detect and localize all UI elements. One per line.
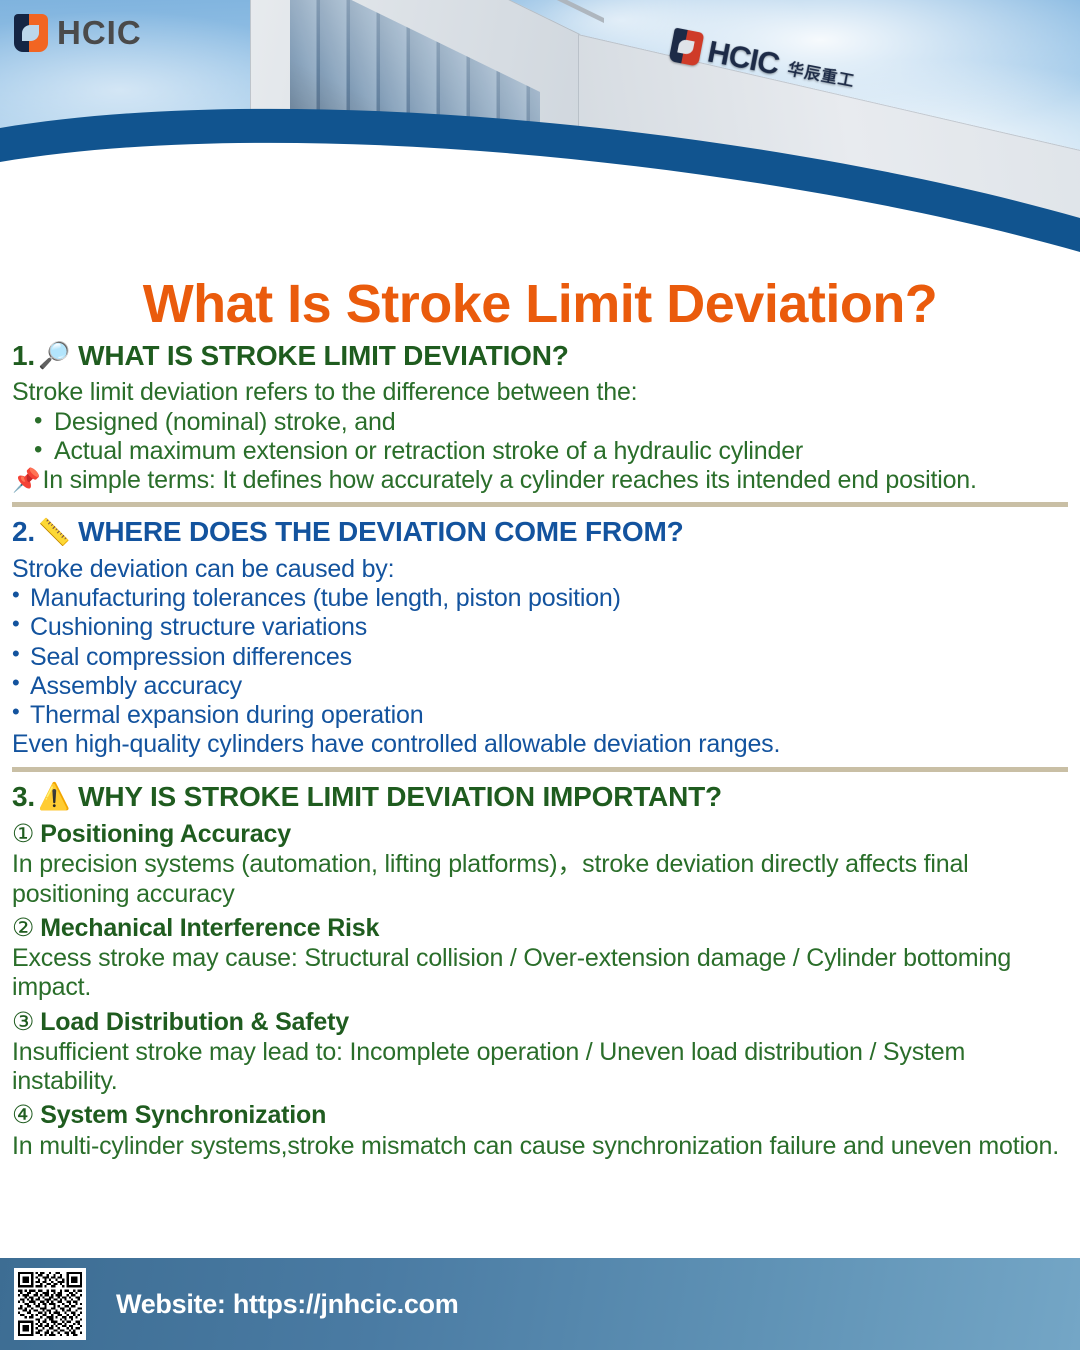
list-item: Seal compression differences xyxy=(12,643,1068,672)
item-marker: ③ xyxy=(12,1008,34,1036)
section-1-bullet-list: Designed (nominal) stroke, and Actual ma… xyxy=(12,408,1068,467)
section-divider-2 xyxy=(12,767,1068,772)
section-3-item-2: ②Mechanical Interference Risk Excess str… xyxy=(12,913,1068,1003)
section-1-heading: 1. 🔎 WHAT IS STROKE LIMIT DEVIATION? xyxy=(12,339,1068,373)
list-item: Cushioning structure variations xyxy=(12,613,1068,642)
item-title: ①Positioning Accuracy xyxy=(12,819,1068,850)
blue-wave-band xyxy=(0,0,1080,268)
footer-bar: Website: https://jnhcic.com xyxy=(0,1258,1080,1350)
list-item: Designed (nominal) stroke, and xyxy=(12,408,1068,437)
item-title-text: System Synchronization xyxy=(40,1101,326,1129)
item-title: ④System Synchronization xyxy=(12,1100,1068,1131)
section-2-heading: 2. 📏 WHERE DOES THE DEVIATION COME FROM? xyxy=(12,515,1068,549)
list-item: Assembly accuracy xyxy=(12,672,1068,701)
section-1-intro: Stroke limit deviation refers to the dif… xyxy=(12,378,1068,407)
item-body: In precision systems (automation, liftin… xyxy=(12,850,1068,909)
section-3-heading-text: WHY IS STROKE LIMIT DEVIATION IMPORTANT? xyxy=(78,780,722,814)
section-3-item-4: ④System Synchronization In multi-cylinde… xyxy=(12,1100,1068,1161)
section-divider-1 xyxy=(12,502,1068,507)
list-item: Manufacturing tolerances (tube length, p… xyxy=(12,584,1068,613)
section-3-number: 3. xyxy=(12,780,35,814)
item-body: Excess stroke may cause: Structural coll… xyxy=(12,944,1068,1003)
section-3-item-3: ③Load Distribution & Safety Insufficient… xyxy=(12,1007,1068,1097)
section-2: 2. 📏 WHERE DOES THE DEVIATION COME FROM?… xyxy=(12,509,1068,759)
section-1-heading-text: WHAT IS STROKE LIMIT DEVIATION? xyxy=(78,339,569,373)
qr-code[interactable] xyxy=(14,1268,86,1340)
item-title-text: Mechanical Interference Risk xyxy=(40,914,379,942)
section-1-note: 📌In simple terms: It defines how accurat… xyxy=(12,466,1068,495)
infographic-page: HCIC 华辰重工 HCIC What Is Stroke Limit Devi… xyxy=(0,0,1080,1350)
hcic-logo-icon xyxy=(14,14,48,52)
section-3-heading: 3. ⚠️ WHY IS STROKE LIMIT DEVIATION IMPO… xyxy=(12,780,1068,814)
content-area: 1. 🔎 WHAT IS STROKE LIMIT DEVIATION? Str… xyxy=(0,333,1080,1161)
section-2-heading-text: WHERE DOES THE DEVIATION COME FROM? xyxy=(78,515,683,549)
item-title-text: Positioning Accuracy xyxy=(40,820,291,848)
list-item: Actual maximum extension or retraction s… xyxy=(12,437,1068,466)
warning-triangle-icon: ⚠️ xyxy=(38,783,70,809)
section-3: 3. ⚠️ WHY IS STROKE LIMIT DEVIATION IMPO… xyxy=(12,774,1068,1161)
list-item: Thermal expansion during operation xyxy=(12,701,1068,730)
item-marker: ④ xyxy=(12,1101,34,1129)
brand-logo-text: HCIC xyxy=(57,14,142,52)
section-2-number: 2. xyxy=(12,515,35,549)
brand-logo: HCIC xyxy=(14,14,142,52)
item-body: Insufficient stroke may lead to: Incompl… xyxy=(12,1038,1068,1097)
item-body: In multi-cylinder systems,stroke mismatc… xyxy=(12,1132,1068,1161)
section-1-number: 1. xyxy=(12,339,35,373)
magnifying-glass-icon: 🔎 xyxy=(38,342,70,368)
hero-banner: HCIC 华辰重工 HCIC xyxy=(0,0,1080,268)
ruler-icon: 📏 xyxy=(38,519,70,545)
item-marker: ② xyxy=(12,914,34,942)
item-marker: ① xyxy=(12,820,34,848)
section-1-note-text: In simple terms: It defines how accurate… xyxy=(42,466,976,494)
section-2-intro: Stroke deviation can be caused by: xyxy=(12,555,1068,584)
item-title: ②Mechanical Interference Risk xyxy=(12,913,1068,944)
item-title: ③Load Distribution & Safety xyxy=(12,1007,1068,1038)
section-2-bullet-list: Manufacturing tolerances (tube length, p… xyxy=(12,584,1068,730)
section-2-outro: Even high-quality cylinders have control… xyxy=(12,730,1068,759)
pushpin-icon: 📌 xyxy=(12,467,40,493)
section-1: 1. 🔎 WHAT IS STROKE LIMIT DEVIATION? Str… xyxy=(12,333,1068,496)
page-title: What Is Stroke Limit Deviation? xyxy=(0,276,1080,333)
website-label[interactable]: Website: https://jnhcic.com xyxy=(116,1289,458,1320)
item-title-text: Load Distribution & Safety xyxy=(40,1008,349,1036)
section-3-item-1: ①Positioning Accuracy In precision syste… xyxy=(12,819,1068,909)
